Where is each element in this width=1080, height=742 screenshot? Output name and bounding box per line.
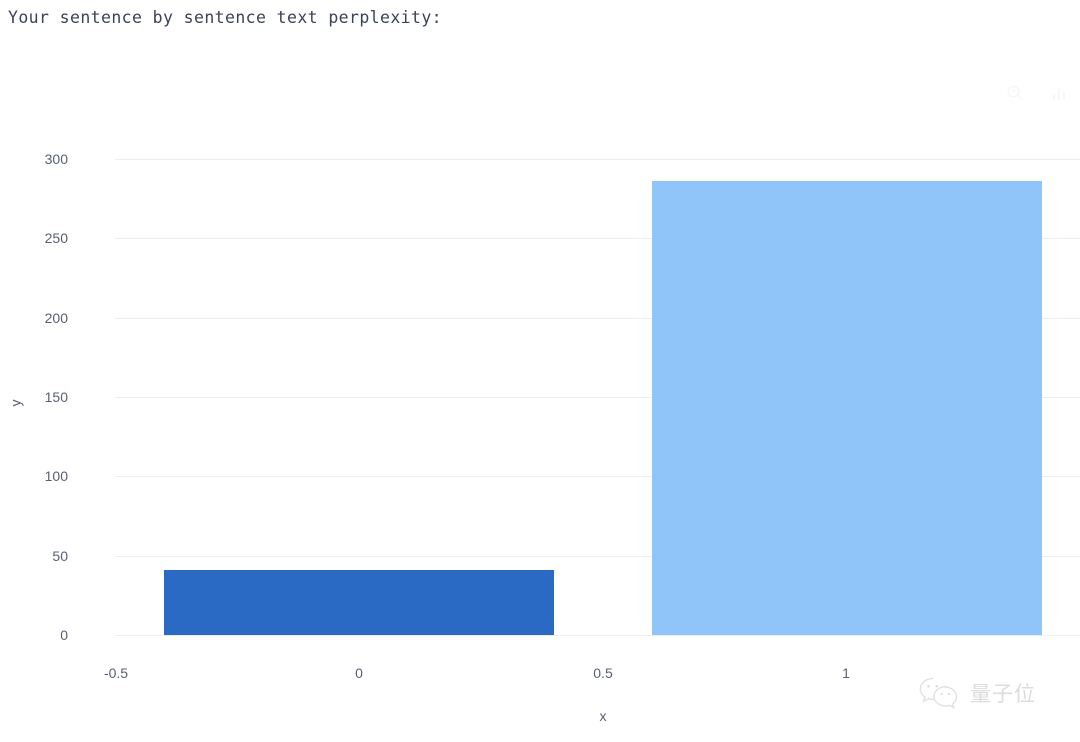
bar-chart-icon[interactable] <box>1048 82 1070 104</box>
ytick-label-300: 300 <box>45 151 68 167</box>
xtick-label--0.5: -0.5 <box>104 665 128 681</box>
xtick-label-0.5: 0.5 <box>593 665 612 681</box>
y-axis-title: y <box>8 400 24 407</box>
bar-chart: 0 50 100 150 200 250 300 -0.5 0 0.5 1 x … <box>0 40 1080 742</box>
watermark: 量子位 <box>918 676 1036 713</box>
ytick-label-200: 200 <box>45 310 68 326</box>
bar-series-0[interactable] <box>164 570 554 635</box>
ytick-label-100: 100 <box>45 468 68 484</box>
plot-modebar[interactable] <box>1004 82 1070 104</box>
watermark-text: 量子位 <box>970 684 1036 705</box>
ytick-label-50: 50 <box>52 548 68 564</box>
ytick-label-0: 0 <box>60 627 68 643</box>
gridline-0 <box>115 635 1080 636</box>
xtick-label-0: 0 <box>355 665 363 681</box>
gridline-300 <box>115 159 1080 160</box>
page-title: Your sentence by sentence text perplexit… <box>8 8 442 27</box>
xtick-label-1: 1 <box>842 665 850 681</box>
bar-series-1[interactable] <box>652 181 1042 635</box>
zoom-in-icon[interactable] <box>1004 82 1026 104</box>
ytick-label-250: 250 <box>45 230 68 246</box>
x-axis-title: x <box>600 708 607 724</box>
wechat-icon <box>918 676 962 713</box>
ytick-label-150: 150 <box>45 389 68 405</box>
